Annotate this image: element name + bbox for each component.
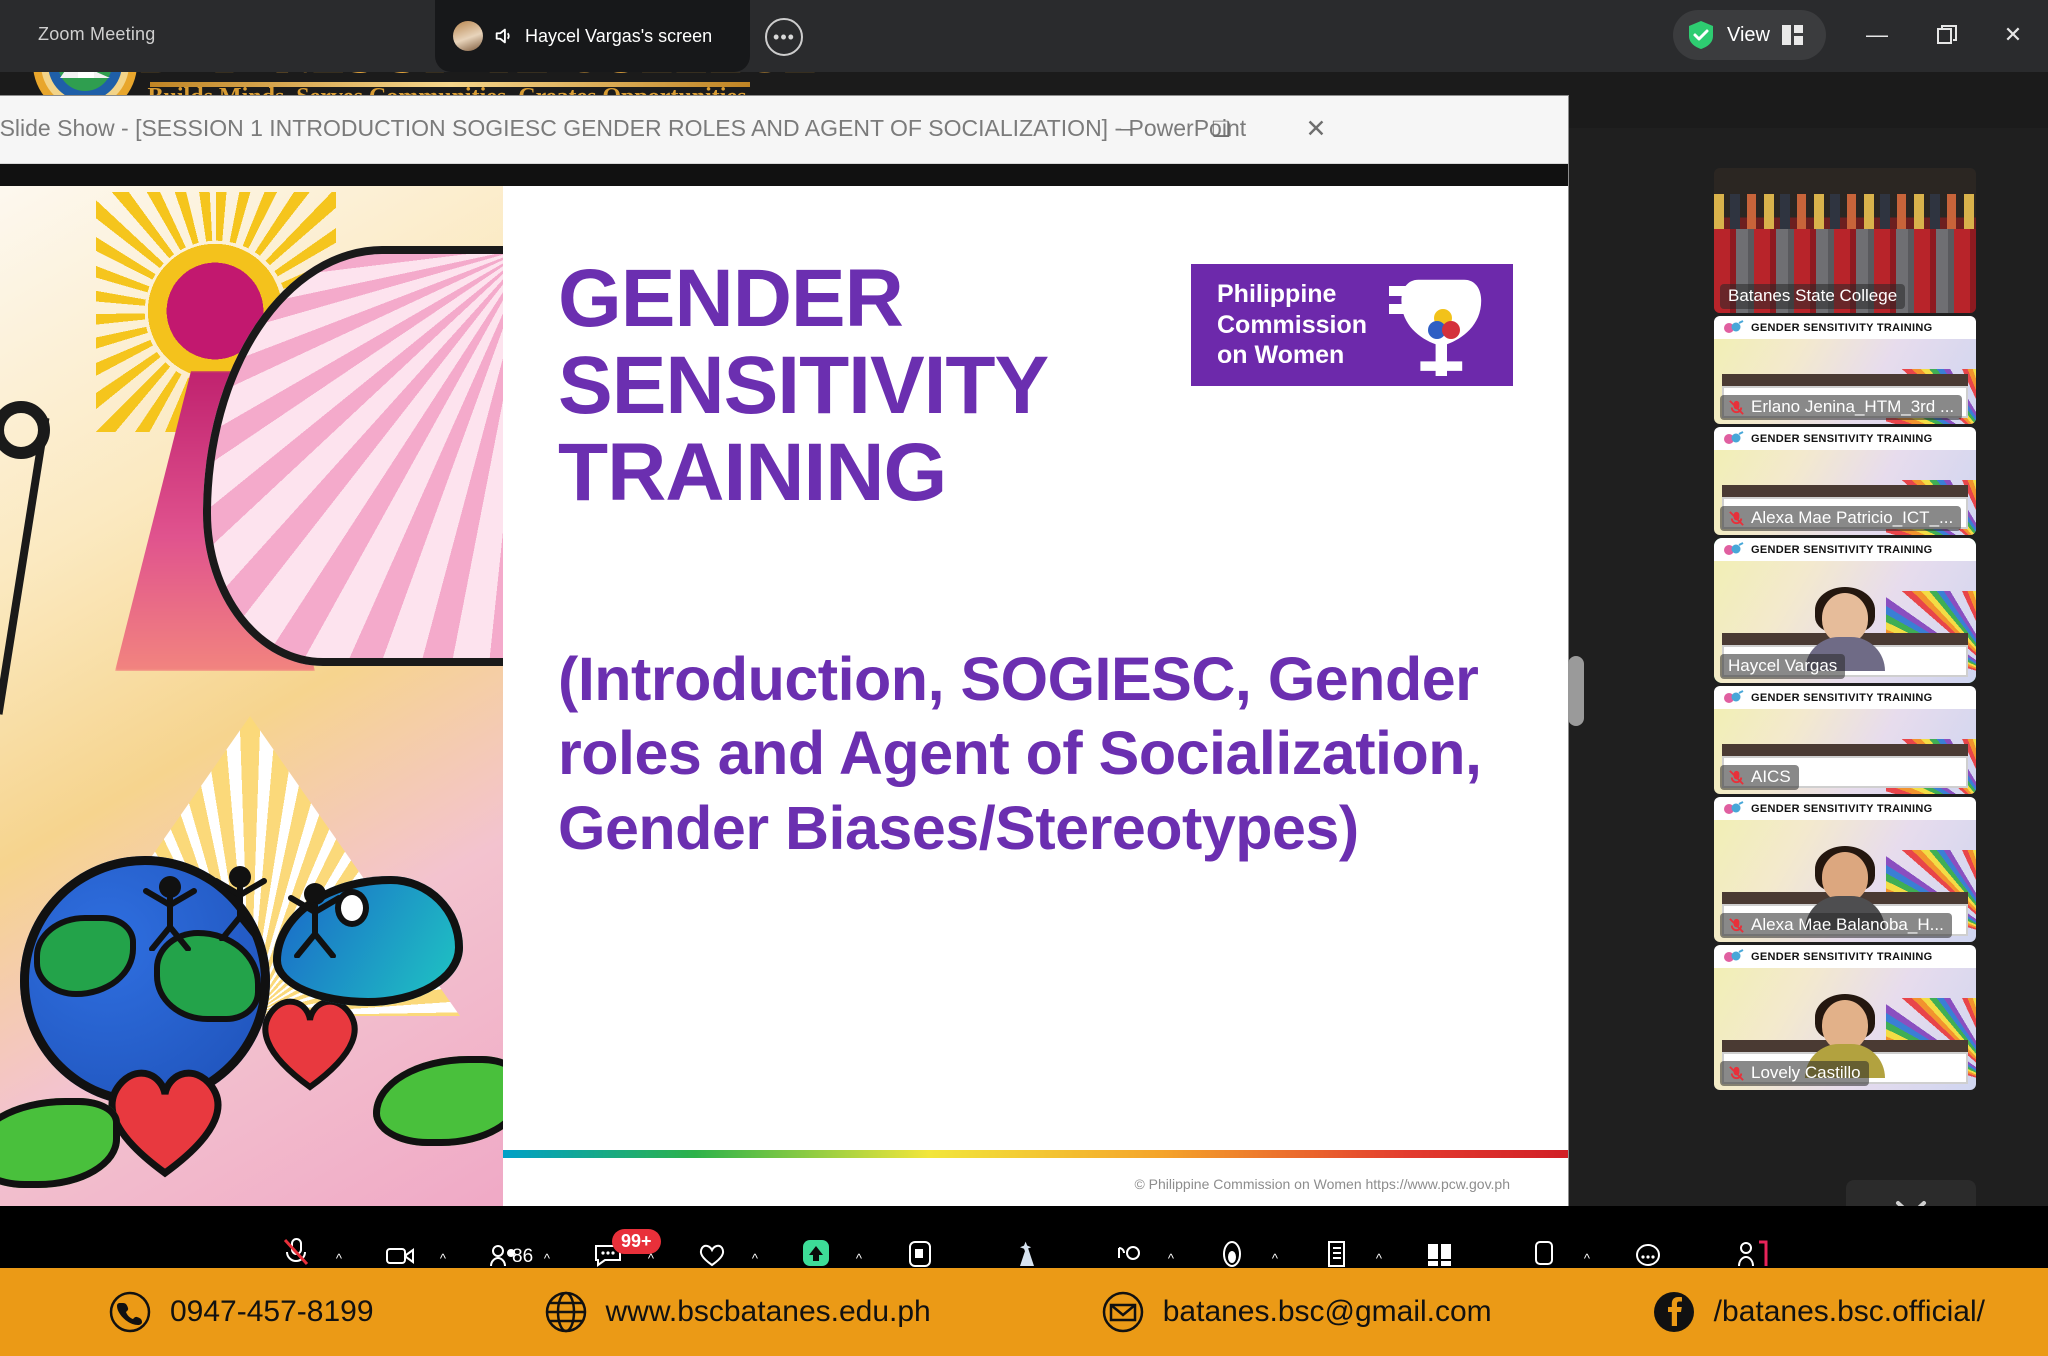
staff-graphic [0,417,49,715]
caret-icon[interactable]: ^ [648,1251,654,1266]
participant-tile[interactable]: GENDER SENSITIVITY TRAINING Alexa Mae Pa… [1714,427,1976,535]
participant-tile-active-speaker[interactable]: GENDER SENSITIVITY TRAINING Haycel Varga… [1714,538,1976,683]
camera-control-button[interactable]: ^ [1076,1214,1180,1268]
globe-icon [544,1290,588,1334]
view-chip[interactable]: View [1673,10,1826,60]
gender-symbols-icon [1722,690,1744,706]
avatar [453,21,483,51]
camera-icon [380,1234,420,1268]
participant-name: Erlano Jenina_HTM_3rd ... [1720,395,1962,420]
powerpoint-body: Philippine Commission on Women [0,164,1568,1256]
participant-tile[interactable]: GENDER SENSITIVITY TRAINING AICS [1714,686,1976,794]
footer-website-text: www.bscbatanes.edu.ph [606,1295,931,1329]
slide-canvas[interactable]: Philippine Commission on Women [0,186,1568,1206]
powerpoint-titlebar: nt Slide Show - [SESSION 1 INTRODUCTION … [0,96,1568,164]
caret-icon[interactable]: ^ [544,1251,550,1266]
docs-button[interactable]: ^ [1492,1214,1596,1268]
footer-phone-text: 0947-457-8199 [170,1295,374,1329]
docs-icon [1524,1234,1564,1268]
record-icon [1212,1234,1252,1268]
participant-name: Lovely Castillo [1720,1061,1869,1086]
zoom-titlebar: Zoom Meeting Haycel Vargas's screen ••• … [0,0,2048,72]
pcw-logo-line3: on Women [1217,340,1367,371]
stick-figure-1 [140,871,200,951]
notes-icon [1316,1234,1356,1268]
facebook-icon [1652,1290,1696,1334]
caret-icon[interactable]: ^ [1376,1251,1382,1266]
participant-rail[interactable]: Batanes State College GENDER SENSITIVITY… [1714,168,1976,1168]
powerpoint-restore-button[interactable]: ❑ [1179,106,1263,152]
participant-name: Alexa Mae Balanoba_H... [1720,913,1952,938]
mute-icon [1728,1065,1745,1082]
whiteboard-button[interactable] [868,1214,972,1268]
slide-text-panel: Philippine Commission on Women [503,186,1568,1206]
mute-icon [1728,917,1745,934]
caret-icon[interactable]: ^ [752,1251,758,1266]
slide-subtitle: (Introduction, SOGIESC, Gender roles and… [558,642,1508,865]
mute-icon [1728,510,1745,527]
philippine-commission-on-women-logo: Philippine Commission on Women [1191,264,1513,386]
footer-website: www.bscbatanes.edu.ph [544,1290,931,1334]
pcw-mark-icon [1379,274,1499,376]
gst-overlay-bar: GENDER SENSITIVITY TRAINING [1714,945,1976,968]
apps-icon [1420,1234,1460,1268]
caret-icon[interactable]: ^ [336,1251,342,1266]
gst-overlay-bar: GENDER SENSITIVITY TRAINING [1714,427,1976,450]
gst-overlay-title: GENDER SENSITIVITY TRAINING [1751,544,1932,556]
chat-button[interactable]: 99+ ^ [556,1214,660,1268]
caret-icon[interactable]: ^ [1168,1251,1174,1266]
gst-overlay-bar: GENDER SENSITIVITY TRAINING [1714,797,1976,820]
face-graphic [1822,1000,1868,1050]
slide-rainbow-divider [503,1150,1568,1158]
gender-symbols-icon [1722,949,1744,965]
more-icon [1628,1234,1668,1268]
gst-overlay-bar: GENDER SENSITIVITY TRAINING [1714,686,1976,709]
participant-name: Haycel Vargas [1720,654,1845,679]
stick-figure-2 [210,861,270,941]
window-minimize-button[interactable]: — [1856,14,1898,56]
caret-icon[interactable]: ^ [1272,1251,1278,1266]
powerpoint-close-button[interactable]: ✕ [1274,106,1358,152]
participants-count: 86 [512,1246,533,1268]
whiteboard-icon [900,1234,940,1268]
gst-overlay-title: GENDER SENSITIVITY TRAINING [1751,692,1932,704]
stick-figure-3 [285,878,345,958]
slide-credit: © Philippine Commission on Women https:/… [1134,1176,1510,1192]
zoom-toolbar[interactable]: ^ ^ 86 ^ 99+ ^ ^ [0,1206,2048,1268]
participant-name: Batanes State College [1720,284,1905,309]
more-button[interactable] [1596,1214,1700,1268]
speaker-icon [493,25,515,47]
window-maximize-button[interactable] [1926,14,1968,56]
gst-overlay-bar: GENDER SENSITIVITY TRAINING [1714,316,1976,339]
participant-name: Alexa Mae Patricio_ICT_... [1720,506,1961,531]
gender-symbols-icon [1722,542,1744,558]
slide-top-margin [0,164,1568,186]
share-screen-button[interactable]: ^ [764,1214,868,1268]
participants-button[interactable]: 86 ^ [452,1214,556,1268]
slide-artwork [0,186,503,1206]
caret-icon[interactable]: ^ [1584,1251,1590,1266]
face-graphic [1822,593,1868,643]
audio-button[interactable]: ^ [244,1214,348,1268]
gst-overlay-title: GENDER SENSITIVITY TRAINING [1751,433,1932,445]
footer-email-text: batanes.bsc@gmail.com [1163,1295,1492,1329]
leave-icon [1732,1234,1772,1268]
gender-symbols-icon [1722,801,1744,817]
powerpoint-window: nt Slide Show - [SESSION 1 INTRODUCTION … [0,96,1568,1256]
window-close-button[interactable]: ✕ [1992,14,2034,56]
sparkle-icon [1004,1234,1044,1268]
meeting-label: Zoom Meeting [38,24,155,45]
contact-footer: 0947-457-8199 www.bscbatanes.edu.ph bata… [0,1268,2048,1356]
reactions-icon [692,1234,732,1268]
slide-heading-line-3: TRAINING [558,430,1508,517]
screen-share-indicator[interactable]: Haycel Vargas's screen [435,0,750,72]
participant-tile[interactable]: Batanes State College [1714,168,1976,313]
gst-overlay-title: GENDER SENSITIVITY TRAINING [1751,322,1932,334]
participant-tile[interactable]: GENDER SENSITIVITY TRAINING Alexa Mae Ba… [1714,797,1976,942]
leave-button[interactable] [1700,1214,1804,1268]
video-button[interactable]: ^ [348,1214,452,1268]
notes-button[interactable]: ^ [1284,1214,1388,1268]
gst-overlay-title: GENDER SENSITIVITY TRAINING [1751,951,1932,963]
powerpoint-minimize-button[interactable]: – [1084,106,1168,152]
camera-control-icon [1108,1234,1148,1268]
security-shield-icon [1687,20,1715,50]
phone-icon [108,1290,152,1334]
view-label: View [1727,24,1770,47]
screen-root: 1964 BATANES STATE COLLEGE Builds Minds.… [0,0,2048,1356]
participant-tile[interactable]: GENDER SENSITIVITY TRAINING Erlano Jenin… [1714,316,1976,424]
apps-button[interactable] [1388,1214,1492,1268]
envelope-icon [1101,1290,1145,1334]
share-text: Haycel Vargas's screen [525,26,712,47]
participant-name: AICS [1720,765,1799,790]
layout-icon[interactable] [1782,25,1804,45]
more-options-icon[interactable]: ••• [765,18,803,56]
gender-symbols-icon [1722,431,1744,447]
footer-email: batanes.bsc@gmail.com [1101,1290,1492,1334]
pcw-logo-line1: Philippine [1217,279,1367,310]
gst-overlay-bar: GENDER SENSITIVITY TRAINING [1714,538,1976,561]
slide-scrollbar-thumb[interactable] [1568,656,1584,726]
gender-symbols-icon [1722,320,1744,336]
reactions-button[interactable]: ^ [660,1214,764,1268]
participant-tile[interactable]: GENDER SENSITIVITY TRAINING Lovely Casti… [1714,945,1976,1090]
mute-icon [1728,769,1745,786]
caret-icon[interactable]: ^ [856,1251,862,1266]
share-screen-icon [796,1234,836,1268]
pcw-logo-line2: Commission [1217,310,1367,341]
footer-facebook-text: /batanes.bsc.official/ [1714,1295,1985,1329]
microphone-icon [276,1234,316,1268]
face-graphic [1822,852,1868,902]
ai-companion-button[interactable] [972,1214,1076,1268]
footer-phone: 0947-457-8199 [108,1290,374,1334]
footer-facebook: /batanes.bsc.official/ [1652,1290,1985,1334]
record-button[interactable]: ^ [1180,1214,1284,1268]
gst-overlay-title: GENDER SENSITIVITY TRAINING [1751,803,1932,815]
caret-icon[interactable]: ^ [440,1251,446,1266]
mute-icon [1728,399,1745,416]
leaf-graphic-right [373,1056,503,1146]
powerpoint-title: nt Slide Show - [SESSION 1 INTRODUCTION … [0,115,1246,142]
